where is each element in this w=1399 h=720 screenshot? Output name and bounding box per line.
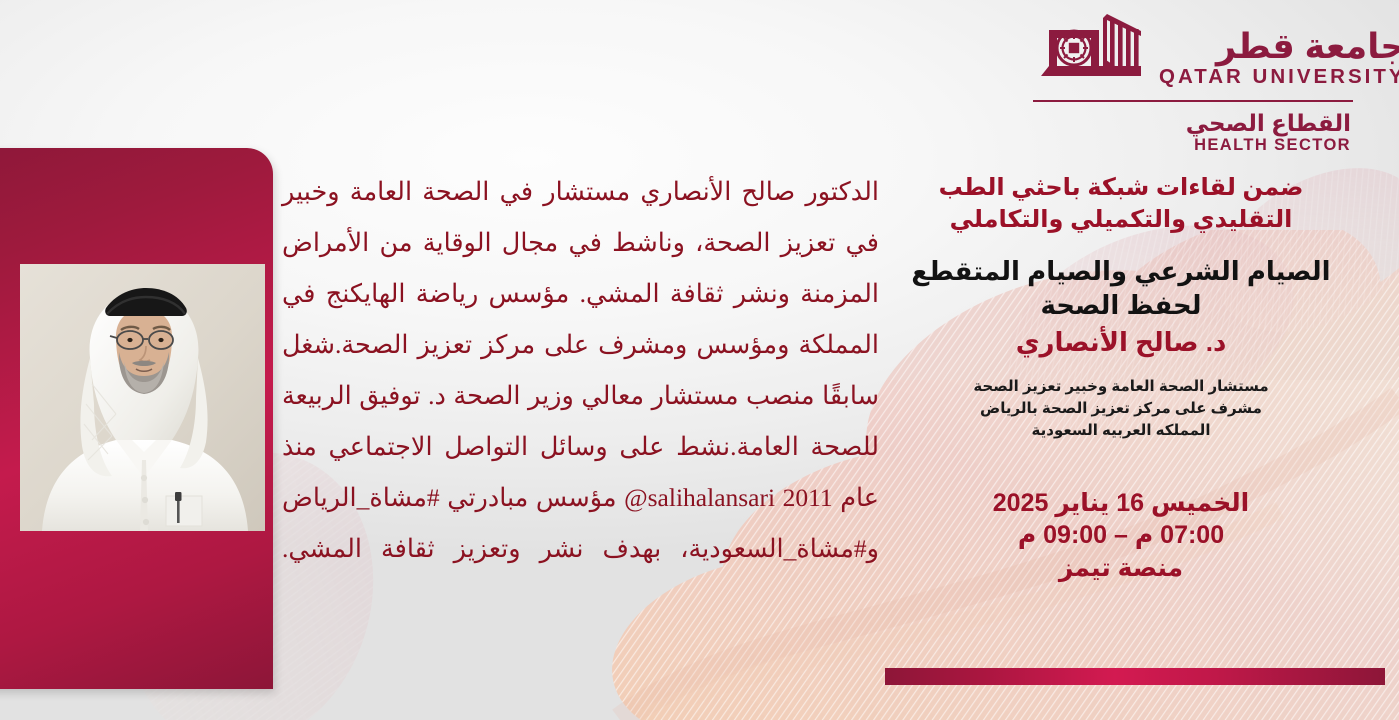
event-date: الخميس 16 يناير 2025 <box>891 487 1351 520</box>
event-speaker-name: د. صالح الأنصاري <box>891 325 1351 360</box>
logo-sector-name-en: HEALTH SECTOR <box>1033 136 1353 156</box>
portrait-illustration-icon <box>20 264 265 531</box>
speaker-biography: الدكتور صالح الأنصاري مستشار في الصحة ال… <box>282 166 879 574</box>
speaker-credentials: مستشار الصحة العامة وخبير تعزيز الصحة مش… <box>891 376 1351 443</box>
event-series-line: ضمن لقاءات شبكة باحثي الطب التقليدي والت… <box>891 172 1351 235</box>
event-schedule: الخميس 16 يناير 2025 07:00 م – 09:00 م م… <box>891 487 1351 585</box>
logo-sector-name-ar: القطاع الصحي <box>1033 110 1353 136</box>
event-details-column: ضمن لقاءات شبكة باحثي الطب التقليدي والت… <box>891 172 1351 584</box>
event-time: 07:00 م – 09:00 م <box>891 519 1351 552</box>
qatar-university-seal-icon <box>1033 14 1145 91</box>
event-platform: منصة تيمز <box>891 552 1351 585</box>
credential-line: مستشار الصحة العامة وخبير تعزيز الصحة <box>891 376 1351 398</box>
credential-line: مشرف على مركز تعزيز الصحة بالرياض <box>891 398 1351 420</box>
qatar-university-logo: جامعة قطر QATAR UNIVERSITY القطاع الصحي … <box>1033 14 1353 156</box>
event-poster: جامعة قطر QATAR UNIVERSITY القطاع الصحي … <box>0 0 1399 720</box>
credential-line: المملكه العربيه السعودية <box>891 420 1351 442</box>
logo-university-name-en: QATAR UNIVERSITY <box>1159 65 1399 89</box>
bio-social-handle: @salihalansari <box>624 483 775 512</box>
bio-lead-text: الدكتور صالح الأنصاري مستشار في الصحة ال… <box>282 177 879 512</box>
event-talk-title: الصيام الشرعي والصيام المتقطع لحفظ الصحة <box>891 255 1351 323</box>
bottom-accent-bar <box>885 668 1385 685</box>
speaker-photo-panel <box>0 148 273 689</box>
logo-divider <box>1033 100 1353 102</box>
logo-university-name-ar: جامعة قطر <box>1159 29 1399 66</box>
seal-building-icon <box>1033 14 1145 86</box>
speaker-portrait-photo <box>20 264 265 531</box>
